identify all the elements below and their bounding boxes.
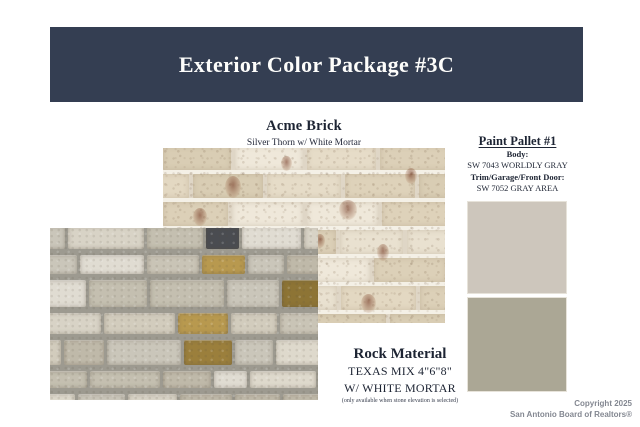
stone-unit: [235, 340, 273, 365]
brick-course: [163, 200, 445, 228]
paint-pallet-block: Paint Pallet #1 Body: SW 7043 WORLDLY GR…: [452, 134, 583, 195]
brick-unit: [267, 174, 341, 198]
stone-course: [50, 392, 318, 400]
stone-unit: [184, 340, 232, 365]
stone-unit: [242, 228, 301, 249]
stone-unit: [206, 228, 239, 249]
paint-pallet-title: Paint Pallet #1: [452, 134, 583, 149]
stone-unit: [231, 313, 277, 334]
stone-course: [50, 228, 318, 250]
stone-unit: [180, 394, 232, 401]
stone-unit: [150, 280, 224, 307]
page-title: Exterior Color Package #3C: [179, 54, 454, 76]
brick-unit: [420, 286, 445, 310]
color-package-sheet: Exterior Color Package #3C Acme Brick Si…: [0, 0, 640, 427]
stone-unit: [147, 228, 203, 249]
brick-unit: [314, 314, 386, 323]
paint-body-label: Body:: [452, 149, 583, 160]
paint-trim-label: Trim/Garage/Front Door:: [452, 172, 583, 183]
stone-unit: [227, 280, 279, 307]
stone-unit: [147, 255, 199, 274]
brick-unit: [163, 148, 231, 170]
stone-unit: [50, 313, 101, 334]
stone-unit: [202, 255, 245, 274]
stone-course: [50, 369, 318, 389]
brick-unit: [419, 174, 445, 198]
stone-unit: [50, 255, 77, 274]
stone-unit: [235, 394, 280, 401]
brick-unit: [340, 230, 403, 254]
brick-unit: [407, 230, 445, 254]
stone-unit: [90, 371, 160, 388]
stone-unit: [107, 340, 181, 365]
brick-unit: [163, 202, 228, 226]
stone-unit: [163, 371, 211, 388]
stone-unit: [104, 313, 175, 334]
paint-body-value: SW 7043 WORLDLY GRAY: [452, 160, 583, 171]
paint-trim-value: SW 7052 GRAY AREA: [452, 183, 583, 194]
stone-unit: [50, 340, 61, 365]
brick-unit: [341, 286, 416, 310]
stone-course: [50, 311, 318, 335]
paint-swatch-body: [467, 201, 567, 294]
stone-unit: [64, 340, 104, 365]
stone-course: [50, 278, 318, 308]
stone-unit: [287, 255, 318, 274]
brick-course: [163, 148, 445, 172]
brick-unit: [235, 148, 303, 170]
stone-unit: [282, 280, 318, 307]
header-banner: Exterior Color Package #3C: [50, 27, 583, 102]
brick-unit: [232, 202, 303, 226]
stone-unit: [50, 228, 65, 249]
copyright-watermark: Copyright 2025 San Antonio Board of Real…: [402, 399, 632, 421]
stone-unit: [214, 371, 247, 388]
stone-course: [50, 338, 318, 366]
brick-unit: [345, 174, 415, 198]
brick-course: [163, 172, 445, 200]
stone-course: [50, 253, 318, 275]
stone-unit: [248, 255, 284, 274]
stone-unit: [50, 371, 87, 388]
paint-swatch-trim: [467, 297, 567, 392]
copyright-line-2: San Antonio Board of Realtors®: [402, 410, 632, 421]
brick-unit: [307, 148, 376, 170]
brick-heading-block: Acme Brick Silver Thorn w/ White Mortar: [163, 118, 445, 149]
stone-unit: [80, 255, 144, 274]
brick-unit: [380, 148, 445, 170]
stone-unit: [50, 394, 75, 401]
stone-unit: [128, 394, 177, 401]
copyright-line-1: Copyright 2025: [402, 399, 632, 410]
stone-unit: [78, 394, 125, 401]
stone-texture-photo: [50, 228, 318, 400]
brick-unit: [193, 174, 263, 198]
stone-unit: [50, 280, 86, 307]
stone-unit: [304, 228, 318, 249]
stone-unit: [68, 228, 144, 249]
brick-unit: [374, 258, 445, 282]
brick-unit: [382, 202, 445, 226]
stone-unit: [178, 313, 228, 334]
brick-title: Acme Brick: [163, 118, 445, 135]
brick-unit: [390, 314, 445, 323]
brick-unit: [163, 174, 189, 198]
stone-unit: [280, 313, 318, 334]
stone-unit: [89, 280, 147, 307]
brick-unit: [307, 202, 378, 226]
